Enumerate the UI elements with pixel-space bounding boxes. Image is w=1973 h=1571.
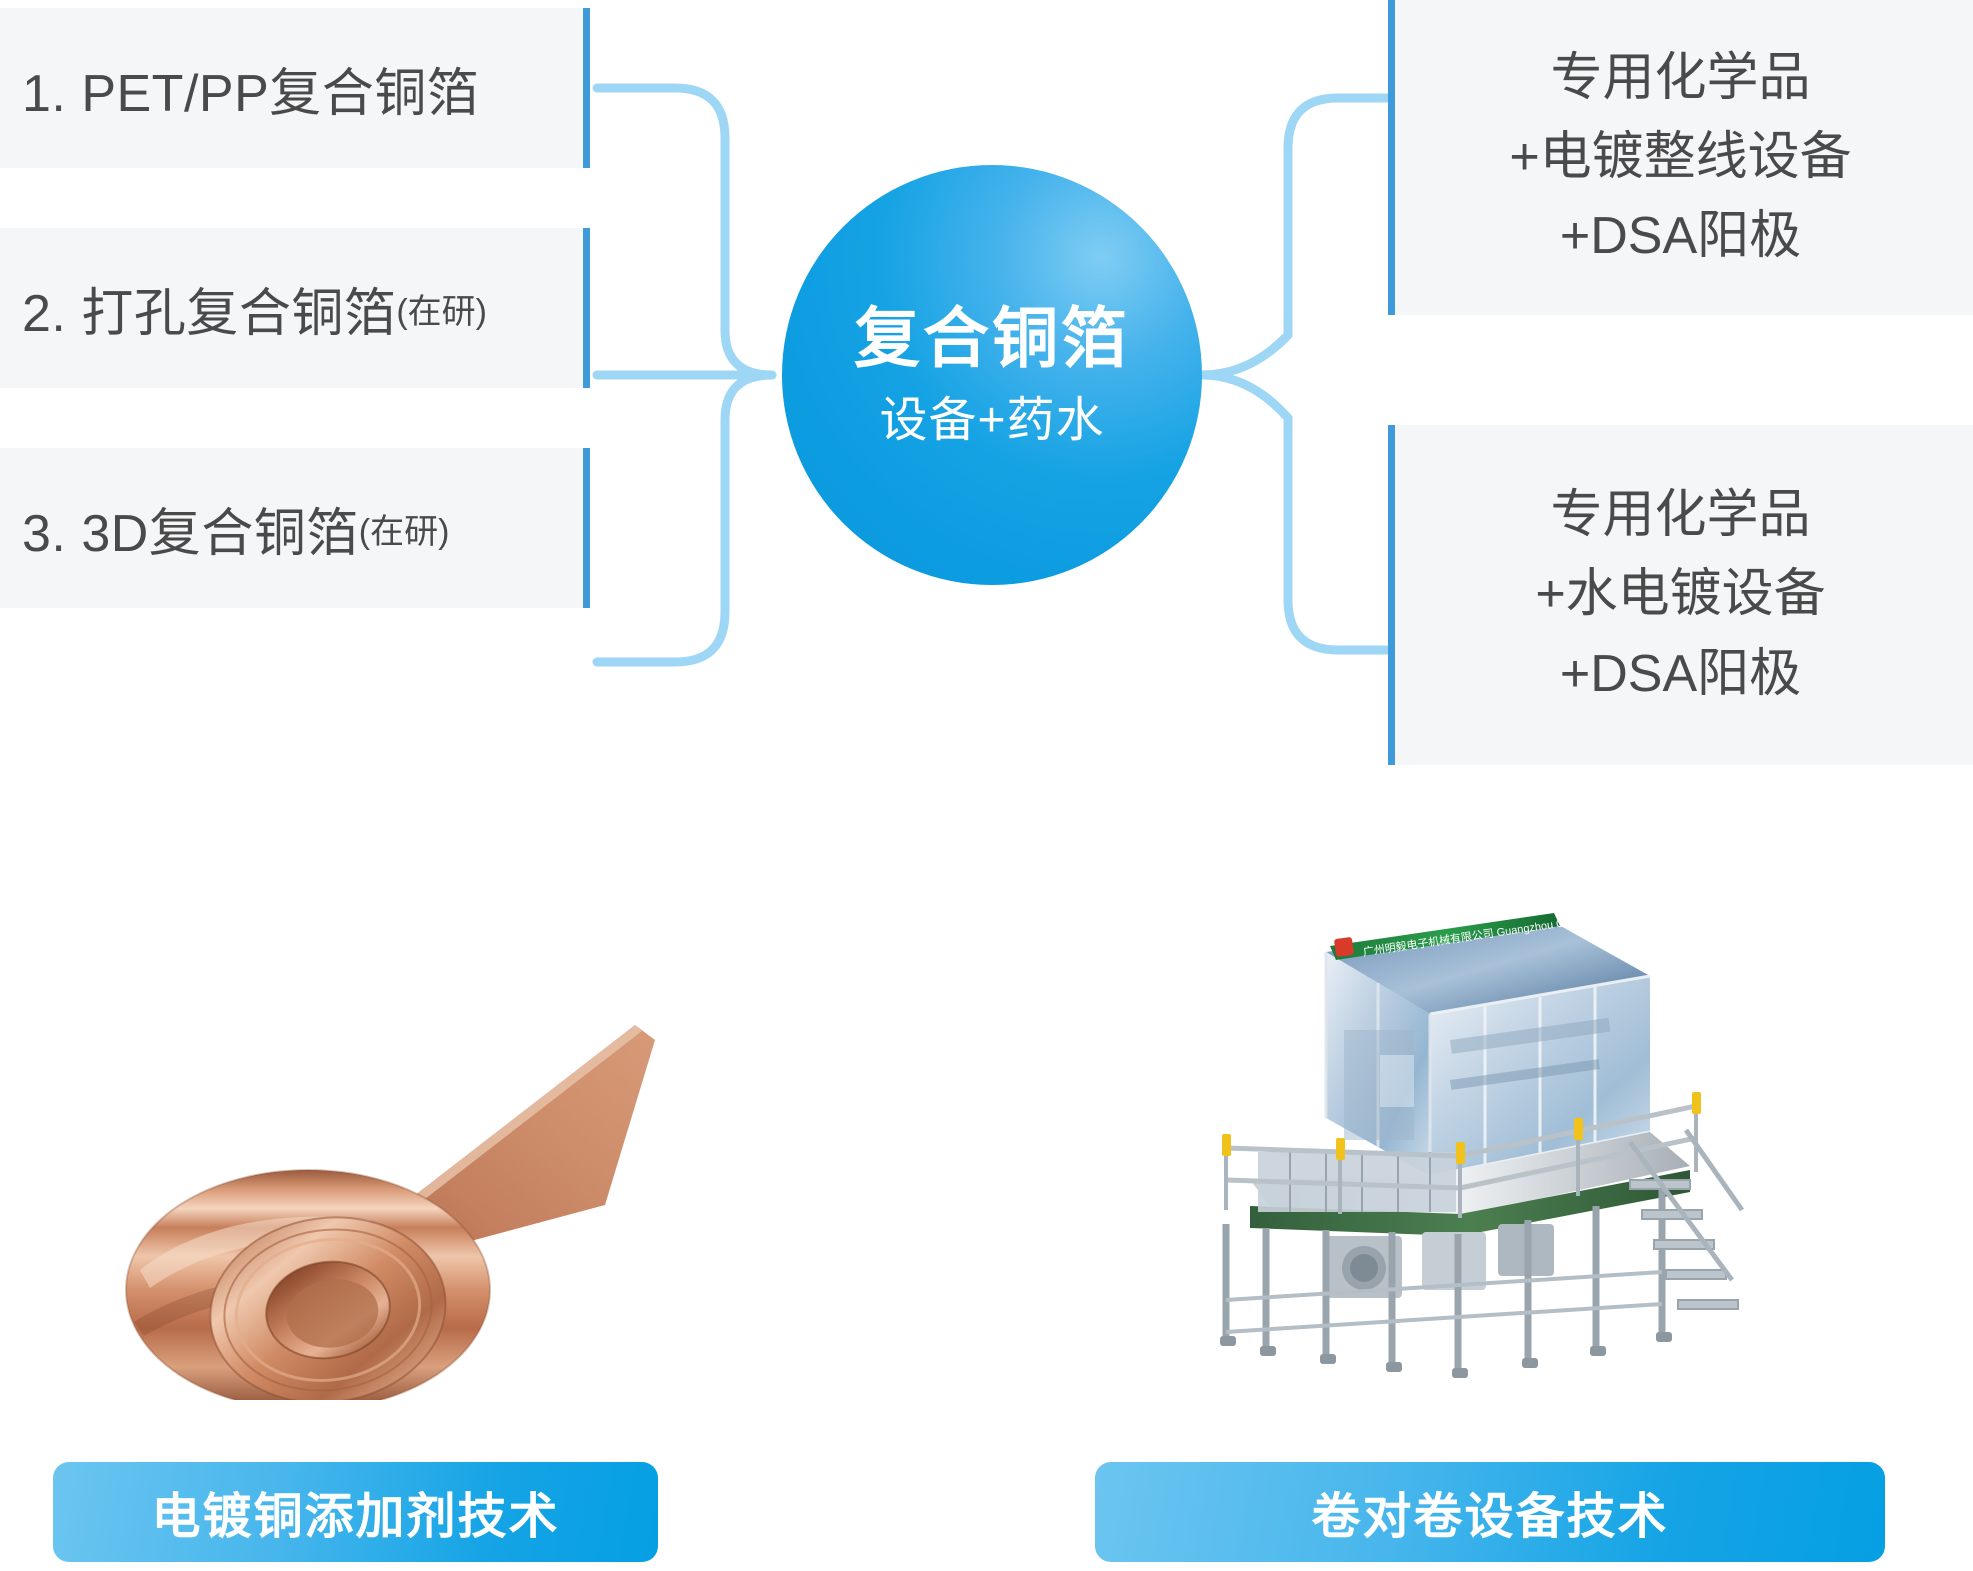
hub-title: 复合铜箔 xyxy=(854,305,1130,371)
right-item-1[interactable]: 专用化学品 +电镀整线设备 +DSA阳极 xyxy=(1388,0,1973,315)
right-item-2-accent-bar xyxy=(1388,425,1395,765)
copper-foil-roll-image xyxy=(70,930,770,1400)
right-item-2-line-3: +DSA阳极 xyxy=(1560,635,1801,714)
left-item-2[interactable]: 2. 打孔复合铜箔 (在研) xyxy=(0,228,590,388)
right-item-1-line-2: +电镀整线设备 xyxy=(1509,118,1851,197)
roll-to-roll-machine-image: 广州明毅电子机械有限公司 Guangzhou Green Oneyow Elec… xyxy=(1130,880,1750,1410)
right-item-1-line-3: +DSA阳极 xyxy=(1560,197,1801,276)
left-item-3-note: (在研) xyxy=(359,504,450,553)
link-left-1 xyxy=(597,88,772,375)
caption-button-1[interactable]: 电镀铜添加剂技术 xyxy=(53,1462,658,1562)
right-item-1-line-1: 专用化学品 xyxy=(1550,39,1810,118)
left-item-1-accent-bar xyxy=(583,8,590,168)
right-item-1-accent-bar xyxy=(1388,0,1395,315)
link-left-3 xyxy=(597,375,772,662)
right-item-2[interactable]: 专用化学品 +水电镀设备 +DSA阳极 xyxy=(1388,425,1973,765)
hub-subtitle: 设备+药水 xyxy=(879,397,1104,445)
left-item-2-accent-bar xyxy=(583,228,590,388)
link-right-2 xyxy=(1202,375,1388,650)
hub-node[interactable]: 复合铜箔 设备+药水 xyxy=(782,165,1202,585)
caption-button-2[interactable]: 卷对卷设备技术 xyxy=(1095,1462,1885,1562)
left-item-2-note: (在研) xyxy=(396,284,487,333)
left-item-3-label: 3. 3D复合铜箔 xyxy=(22,491,359,566)
diagram-canvas: 1. PET/PP复合铜箔 2. 打孔复合铜箔 (在研) 3. 3D复合铜箔 (… xyxy=(0,0,1973,1571)
left-item-2-label: 2. 打孔复合铜箔 xyxy=(22,271,396,346)
left-item-3-accent-bar xyxy=(583,448,590,608)
caption-1-label: 电镀铜添加剂技术 xyxy=(151,1477,559,1548)
caption-2-label: 卷对卷设备技术 xyxy=(1311,1477,1668,1548)
link-right-1 xyxy=(1202,98,1388,375)
left-item-1-label: 1. PET/PP复合铜箔 xyxy=(22,51,479,126)
right-item-2-line-2: +水电镀设备 xyxy=(1535,555,1825,634)
left-item-1[interactable]: 1. PET/PP复合铜箔 xyxy=(0,8,590,168)
right-item-2-line-1: 专用化学品 xyxy=(1550,476,1810,555)
left-item-3[interactable]: 3. 3D复合铜箔 (在研) xyxy=(0,448,590,608)
